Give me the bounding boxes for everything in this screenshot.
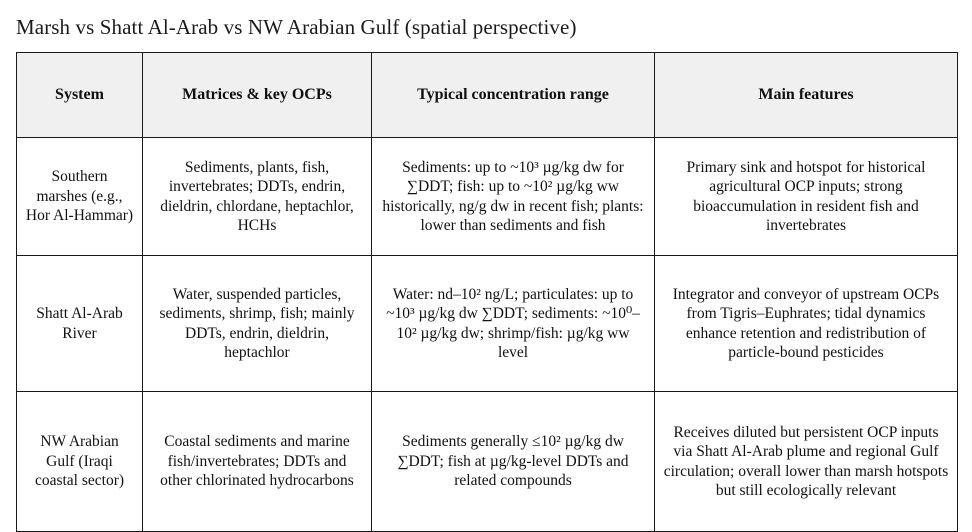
column-header-system: System: [17, 53, 143, 138]
table-header: System Matrices & key OCPs Typical conce…: [17, 53, 958, 138]
table-container: System Matrices & key OCPs Typical conce…: [16, 52, 957, 532]
cell-system: NW Arabian Gulf (Iraqi coastal sector): [17, 392, 143, 532]
cell-system-text: Shatt Al-Arab River: [25, 304, 134, 343]
cell-concentration: Water: nd–10² ng/L; particulates: up to …: [372, 256, 655, 392]
table-body: Southern marshes (e.g., Hor Al-Hammar) S…: [17, 138, 958, 532]
table-row: Southern marshes (e.g., Hor Al-Hammar) S…: [17, 138, 958, 256]
cell-matrices-text: Coastal sediments and marine fish/invert…: [151, 432, 363, 491]
cell-matrices: Sediments, plants, fish, invertebrates; …: [143, 138, 372, 256]
cell-concentration-text: Sediments generally ≤10² µg/kg dw ∑DDT; …: [380, 432, 646, 491]
cell-matrices-text: Water, suspended particles, sediments, s…: [151, 285, 363, 363]
column-header-features: Main features: [655, 53, 958, 138]
cell-matrices-text: Sediments, plants, fish, invertebrates; …: [151, 158, 363, 236]
page-title: Marsh vs Shatt Al-Arab vs NW Arabian Gul…: [16, 14, 577, 40]
page-root: Marsh vs Shatt Al-Arab vs NW Arabian Gul…: [0, 0, 972, 505]
cell-matrices: Water, suspended particles, sediments, s…: [143, 256, 372, 392]
cell-system-text: NW Arabian Gulf (Iraqi coastal sector): [25, 432, 134, 491]
column-header-concentration: Typical concentration range: [372, 53, 655, 138]
table-header-row: System Matrices & key OCPs Typical conce…: [17, 53, 958, 138]
column-header-matrices: Matrices & key OCPs: [143, 53, 372, 138]
cell-concentration-text: Sediments: up to ~10³ µg/kg dw for ∑DDT;…: [380, 158, 646, 236]
cell-features: Integrator and conveyor of upstream OCPs…: [655, 256, 958, 392]
table-row: NW Arabian Gulf (Iraqi coastal sector) C…: [17, 392, 958, 532]
cell-features: Receives diluted but persistent OCP inpu…: [655, 392, 958, 532]
cell-matrices: Coastal sediments and marine fish/invert…: [143, 392, 372, 532]
cell-concentration-text: Water: nd–10² ng/L; particulates: up to …: [380, 285, 646, 363]
comparison-table: System Matrices & key OCPs Typical conce…: [16, 52, 958, 532]
cell-concentration: Sediments generally ≤10² µg/kg dw ∑DDT; …: [372, 392, 655, 532]
cell-features: Primary sink and hotspot for historical …: [655, 138, 958, 256]
table-row: Shatt Al-Arab River Water, suspended par…: [17, 256, 958, 392]
cell-features-text: Primary sink and hotspot for historical …: [663, 158, 949, 236]
cell-system: Southern marshes (e.g., Hor Al-Hammar): [17, 138, 143, 256]
cell-features-text: Receives diluted but persistent OCP inpu…: [663, 423, 949, 501]
cell-system-text: Southern marshes (e.g., Hor Al-Hammar): [25, 167, 134, 226]
cell-concentration: Sediments: up to ~10³ µg/kg dw for ∑DDT;…: [372, 138, 655, 256]
cell-features-text: Integrator and conveyor of upstream OCPs…: [663, 285, 949, 363]
cell-system: Shatt Al-Arab River: [17, 256, 143, 392]
